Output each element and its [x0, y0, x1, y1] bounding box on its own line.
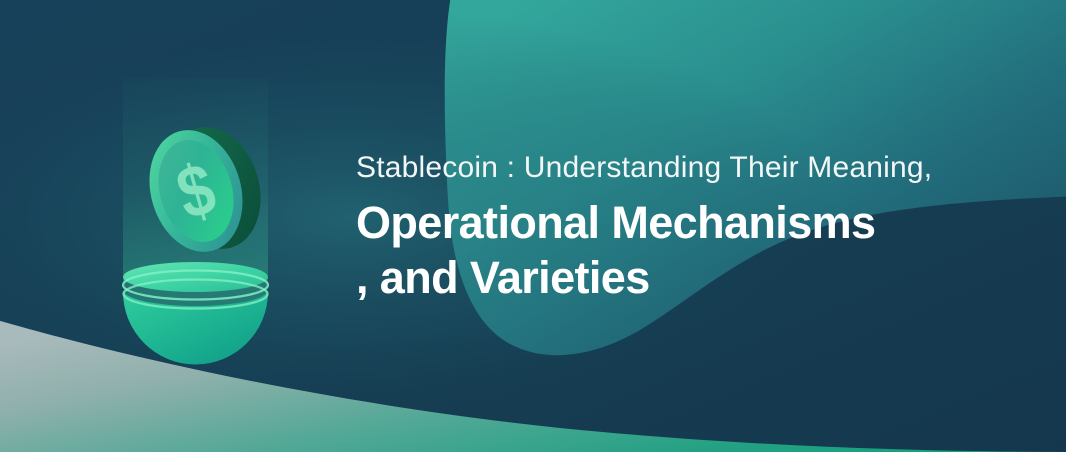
stablecoin-illustration: $ — [108, 78, 288, 378]
banner-title-line-1: Operational Mechanisms — [356, 194, 1016, 251]
stablecoin-article-banner: $ Stablecoin : Understanding Their Meani… — [0, 0, 1066, 452]
illustration-svg: $ — [108, 78, 288, 378]
banner-text-block: Stablecoin : Understanding Their Meaning… — [356, 148, 1016, 306]
banner-title-line-2: , and Varieties — [356, 249, 1016, 306]
banner-subtitle: Stablecoin : Understanding Their Meaning… — [356, 148, 1016, 188]
bowl-base — [123, 262, 268, 365]
bowl-rim-surface — [123, 262, 268, 292]
